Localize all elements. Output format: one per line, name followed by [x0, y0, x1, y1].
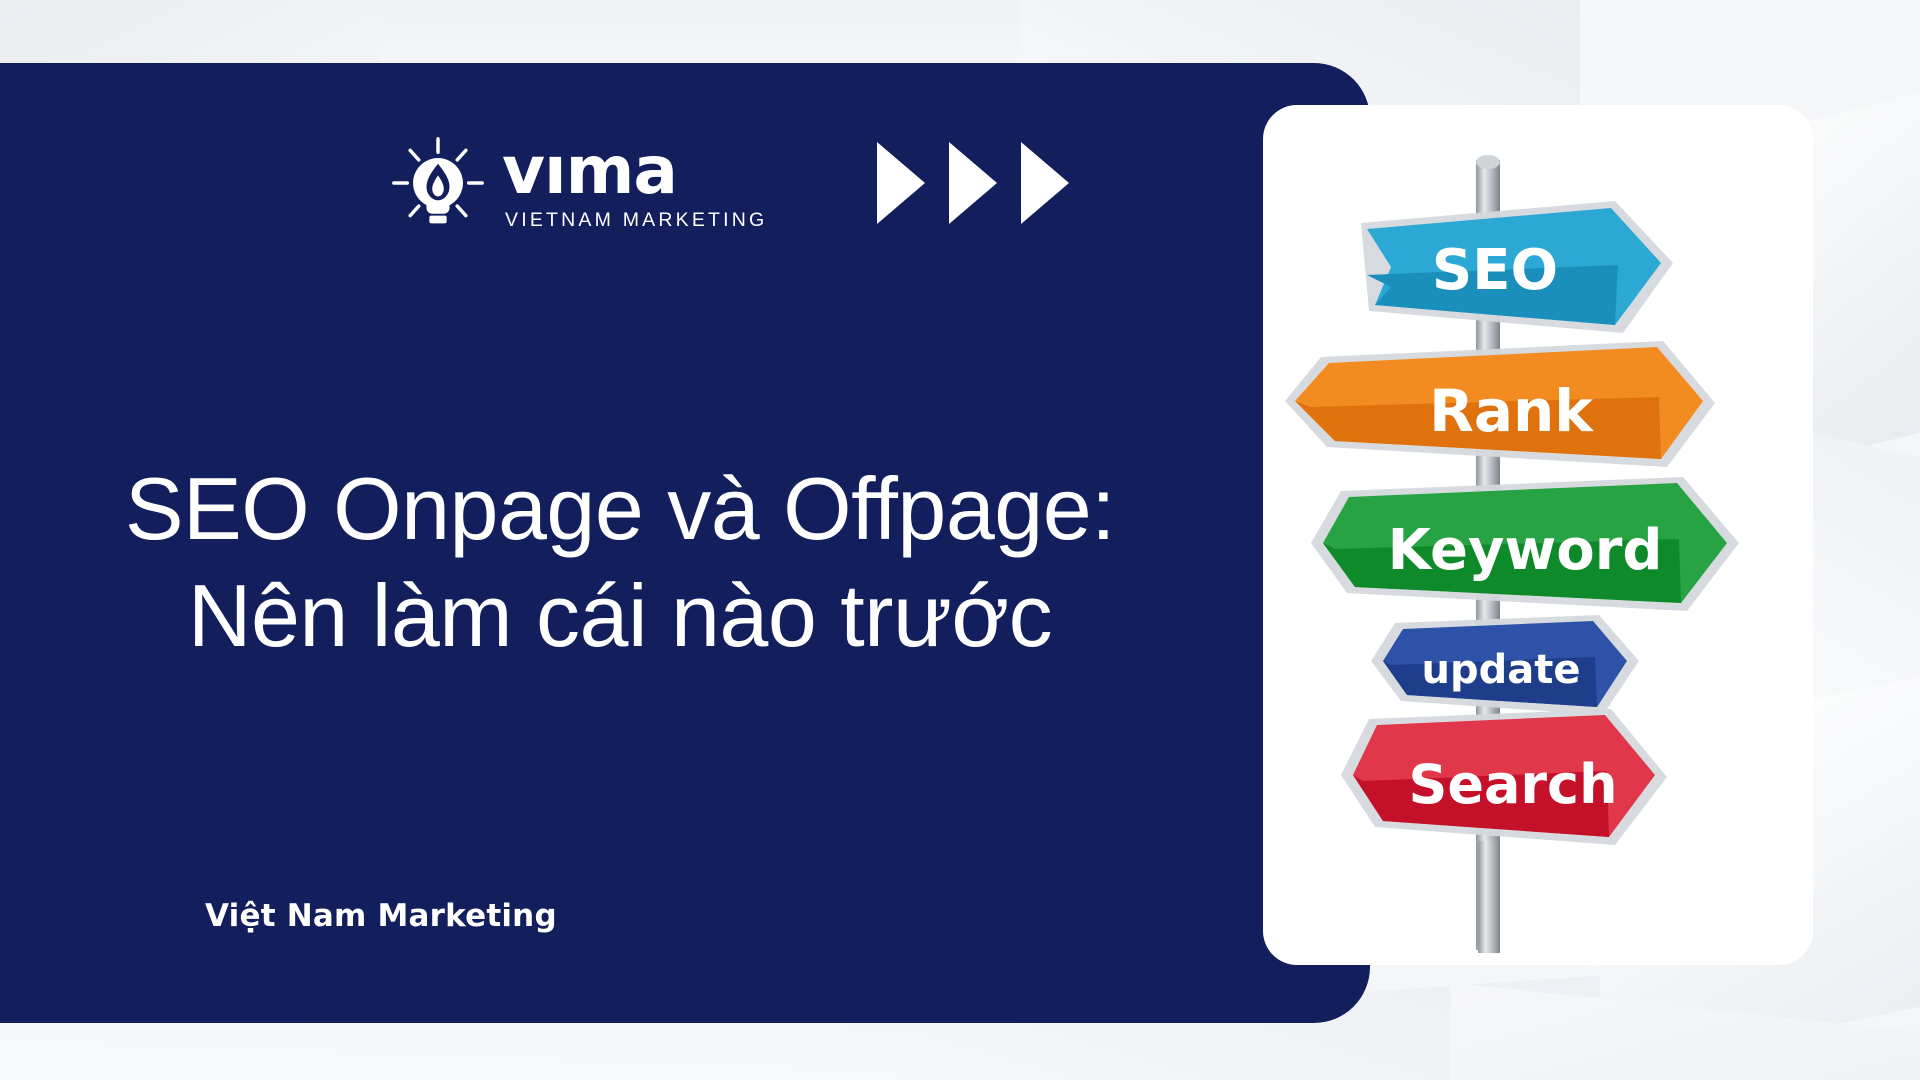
seo-signpost-image: SEO Rank Keyword: [1263, 105, 1813, 965]
slide-root: vıma VIETNAM MARKETING SEO Onpage và Off…: [0, 0, 1920, 1080]
vima-logo[interactable]: vıma VIETNAM MARKETING: [390, 135, 767, 232]
svg-text:SEO: SEO: [1432, 238, 1558, 303]
wordmark-text: vıma: [502, 141, 767, 202]
lightbulb-flame-icon: [390, 135, 486, 231]
signpost-graphic: SEO Rank Keyword: [1263, 105, 1813, 965]
title-line-2: Nên làm cái nào trước: [0, 562, 1240, 669]
wordmark-tagline: VIETNAM MARKETING: [505, 209, 767, 232]
svg-text:Keyword: Keyword: [1388, 518, 1663, 583]
brand-header: vıma VIETNAM MARKETING: [390, 135, 1069, 232]
page-title: SEO Onpage và Offpage: Nên làm cái nào t…: [0, 455, 1240, 670]
svg-text:Search: Search: [1408, 753, 1617, 816]
footer-brand-label: Việt Nam Marketing: [205, 898, 557, 934]
sign-update: update: [1371, 615, 1639, 715]
seo-signpost-card: SEO Rank Keyword: [1263, 105, 1813, 965]
play-triangle-icon: [1021, 142, 1069, 224]
svg-text:Rank: Rank: [1429, 377, 1594, 445]
wordmark-column: vıma VIETNAM MARKETING: [502, 141, 767, 232]
sign-seo: SEO: [1361, 201, 1673, 333]
sign-keyword: Keyword: [1311, 477, 1739, 611]
sign-rank: Rank: [1285, 341, 1715, 467]
sign-search: Search: [1341, 709, 1667, 845]
svg-text:update: update: [1422, 647, 1581, 693]
chevron-group: [877, 142, 1069, 224]
play-triangle-icon: [949, 142, 997, 224]
title-line-1: SEO Onpage và Offpage:: [0, 455, 1240, 562]
play-triangle-icon: [877, 142, 925, 224]
